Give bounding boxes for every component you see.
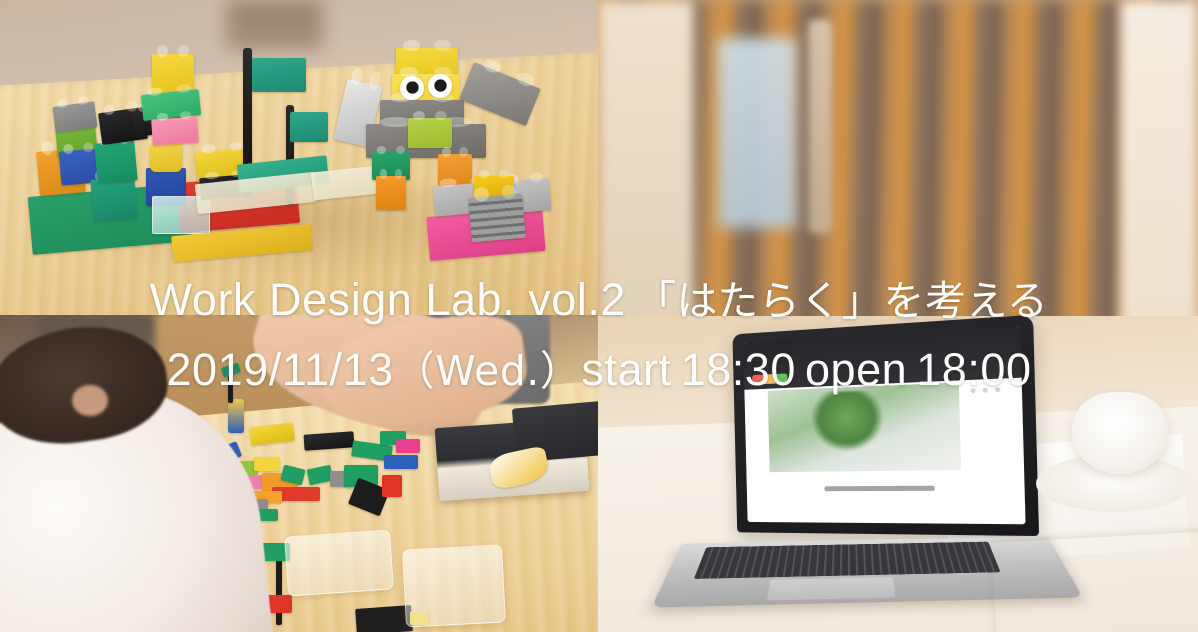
open-time: 18:00 (916, 344, 1031, 395)
plastic-container (402, 544, 506, 627)
event-weekday: （Wed.） (394, 347, 582, 395)
banner-title: Work Design Lab. vol.2「はたらく」を考える (0, 274, 1198, 327)
laptop-keyboard (694, 542, 1001, 579)
lego-grill-brick (468, 194, 526, 243)
book-stack (992, 532, 1198, 632)
glass-door-panel (718, 38, 796, 228)
website-tagline (824, 486, 935, 492)
banner-date-line: 2019/11/13（Wed.）start18:30open18:00 (0, 344, 1198, 397)
lego-flag (290, 112, 328, 142)
plant-in-photo (811, 390, 883, 451)
wall-shadow (227, 0, 323, 50)
plastic-container-lid (284, 529, 394, 596)
laptop-trackpad (767, 577, 896, 601)
lego-flag (252, 58, 306, 92)
lego-piece (382, 475, 402, 497)
lego-piece (396, 439, 420, 453)
banner-title-en: Work Design Lab. vol.2 (150, 274, 626, 325)
lego-piece (384, 455, 418, 469)
event-date: 2019/11/13 (166, 344, 393, 395)
lego-brick (376, 176, 406, 210)
photo-top-left (0, 0, 598, 315)
lego-brick (408, 118, 452, 148)
start-label: start (581, 344, 671, 395)
lego-minifig-head (150, 142, 182, 172)
start-time: 18:30 (681, 344, 796, 395)
lego-piece (254, 457, 280, 471)
lego-brick (151, 116, 199, 145)
coffee-cup (1072, 392, 1168, 474)
event-banner: Work Design Lab. vol.2「はたらく」を考える 2019/11… (0, 0, 1198, 632)
door-handle (808, 19, 832, 234)
open-label: open (805, 344, 907, 395)
banner-title-jp: 「はたらく」を考える (635, 277, 1048, 325)
lego-minifig (228, 399, 244, 433)
lego-brick (94, 140, 137, 183)
